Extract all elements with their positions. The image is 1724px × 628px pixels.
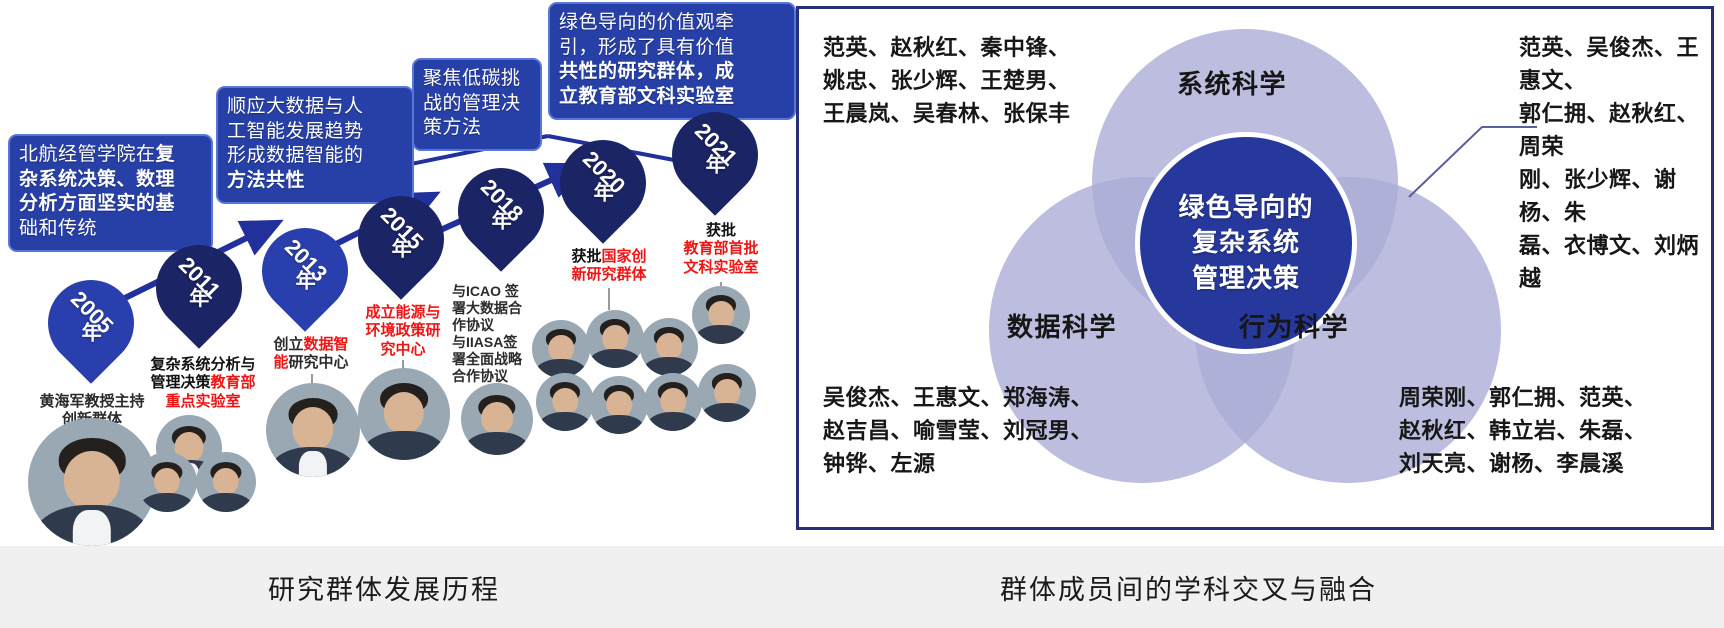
callout-2005-line2: 杂系统决策、数理 xyxy=(19,169,175,190)
member-photo-2015 xyxy=(358,368,450,460)
callout-2005-line3: 分析方面坚实的基 xyxy=(19,193,175,214)
callout-2021-line4: 立教育部文科实验室 xyxy=(559,86,735,107)
member-photo-2020-b xyxy=(586,310,644,368)
callout-2005-bold1: 复 xyxy=(156,144,176,165)
milestone-pin-2018[interactable]: 2018年 xyxy=(440,150,562,272)
caption-bar: 研究群体发展历程 群体成员间的学科交叉与融合 xyxy=(0,546,1724,628)
venn-diagram: 绿色导向的 复杂系统 管理决策 系统科学 数据科学 行为科学 范英、赵秋红、秦中… xyxy=(799,9,1711,527)
callout-2005: 北航经管学院在复 杂系统决策、数理 分析方面坚实的基 础和传统 xyxy=(8,134,213,252)
member-photo-2013 xyxy=(266,383,360,477)
milestone-desc-2015: 成立能源与 环境政策研 究中心 xyxy=(350,304,456,359)
venn-label-data-science: 数据科学 xyxy=(1007,307,1117,344)
milestone-desc-2018: 与ICAO 签 署大数据合 作协议 与IIASA签 署全面战略 合作协议 xyxy=(452,283,548,385)
caption-right: 群体成员间的学科交叉与融合 xyxy=(1000,568,1377,607)
callout-2021: 绿色导向的价值观牵 引，形成了具有价值 共性的研究群体，成 立教育部文科实验室 xyxy=(548,2,796,120)
timeline-panel: 北航经管学院在复 杂系统决策、数理 分析方面坚实的基 础和传统 顺应大数据与人 … xyxy=(0,0,800,546)
member-list-top-left: 范英、赵秋红、秦中锋、 姚忠、张少辉、王楚男、 王晨岚、吴春林、张保丰 xyxy=(823,31,1098,130)
member-photo-2020-c xyxy=(640,318,698,376)
member-photo-2011-c xyxy=(196,452,256,512)
callout-2013-line3: 形成数据智能的 xyxy=(227,144,403,169)
caption-left: 研究群体发展历程 xyxy=(268,568,500,607)
milestone-pin-2020[interactable]: 2020年 xyxy=(542,122,664,244)
member-photo-2020-e xyxy=(590,376,648,434)
slide-root: 北航经管学院在复 杂系统决策、数理 分析方面坚实的基 础和传统 顺应大数据与人 … xyxy=(0,0,1724,628)
venn-leader-line xyxy=(1387,105,1537,225)
callout-2013-line4: 方法共性 xyxy=(227,170,305,191)
stem-2020 xyxy=(608,288,610,310)
callout-2015: 聚焦低碳挑 战的管理决 策方法 xyxy=(412,58,542,151)
milestone-desc-2021: 获批 教育部首批 文科实验室 xyxy=(662,222,780,277)
venn-label-systems-science: 系统科学 xyxy=(1177,64,1287,101)
venn-panel: 绿色导向的 复杂系统 管理决策 系统科学 数据科学 行为科学 范英、赵秋红、秦中… xyxy=(796,6,1714,530)
callout-2021-line2: 引，形成了具有价值 xyxy=(559,37,735,58)
milestone-desc-2013: 创立数据智 能研究中心 xyxy=(258,336,364,373)
callout-2015-line2: 战的管理决 xyxy=(423,92,531,117)
callout-2013-line2: 工智能发展趋势 xyxy=(227,120,403,145)
callout-2013-line1: 顺应大数据与人 xyxy=(227,95,403,120)
callout-2005-line4: 础和传统 xyxy=(19,218,97,239)
callout-2015-line3: 策方法 xyxy=(423,116,531,141)
milestone-pin-2013[interactable]: 2013年 xyxy=(244,210,366,332)
callout-2021-line1: 绿色导向的价值观牵 xyxy=(559,11,785,36)
member-list-bottom-right: 周荣刚、郭仁拥、范英、 赵秋红、韩立岩、朱磊、 刘天亮、谢杨、李晨溪 xyxy=(1399,381,1689,480)
member-photo-2018 xyxy=(461,383,533,455)
member-photo-2020-a xyxy=(532,320,590,378)
member-list-top-right: 范英、吴俊杰、王惠文、 郭仁拥、赵秋红、周荣 刚、张少辉、谢杨、朱 磊、衣博文、… xyxy=(1519,31,1715,295)
venn-core-line2: 复杂系统 xyxy=(1192,227,1300,257)
member-photo-2020-f xyxy=(644,373,702,431)
venn-core-line1: 绿色导向的 xyxy=(1178,192,1313,222)
milestone-desc-2020: 获批国家创 新研究群体 xyxy=(548,248,670,285)
callout-2021-line3: 共性的研究群体，成 xyxy=(559,61,735,82)
callout-2005-line1: 北航经管学院在 xyxy=(19,144,156,165)
member-photo-2020-d xyxy=(536,373,594,431)
callout-2013: 顺应大数据与人 工智能发展趋势 形成数据智能的 方法共性 xyxy=(216,86,414,204)
venn-core-line3: 管理决策 xyxy=(1192,263,1300,293)
member-photo-2021-a xyxy=(692,286,750,344)
callout-2015-line1: 聚焦低碳挑 xyxy=(423,67,531,92)
member-photo-2011-b xyxy=(137,452,197,512)
milestone-desc-2011: 复杂系统分析与 管理决策教育部 重点实验室 xyxy=(128,356,278,411)
member-photo-2021-b xyxy=(698,364,756,422)
venn-label-behavioral-science: 行为科学 xyxy=(1239,307,1349,344)
member-list-bottom-left: 吴俊杰、王惠文、郑海涛、 赵吉昌、喻雪莹、刘冠男、 钟铧、左源 xyxy=(823,381,1113,480)
